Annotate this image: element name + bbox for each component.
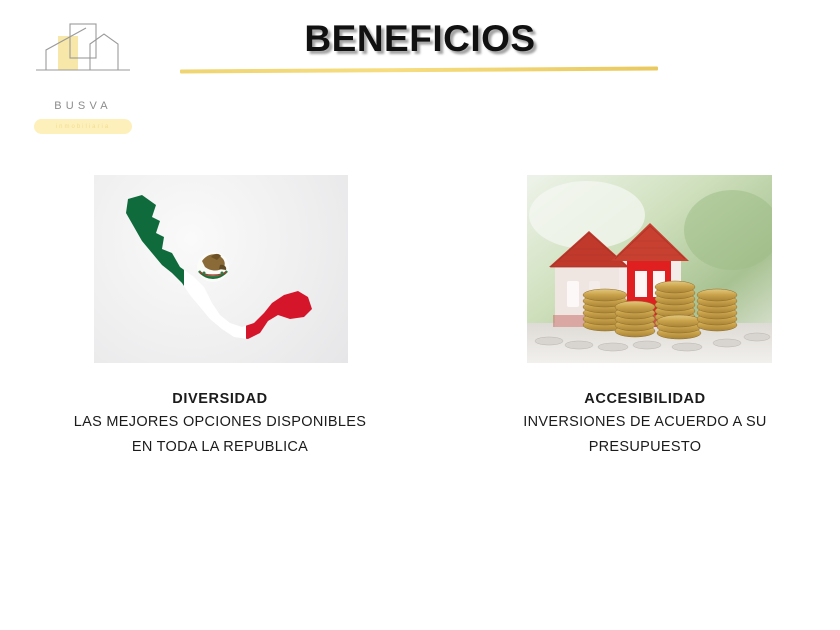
- coin-stack-4: [657, 315, 701, 339]
- mexico-map-shape: [112, 191, 330, 349]
- benefit-body-line-1: INVERSIONES DE ACUERDO A SU: [455, 410, 835, 435]
- benefit-caption-diversidad: DIVERSIDAD LAS MEJORES OPCIONES DISPONIB…: [10, 388, 430, 460]
- benefit-heading: ACCESIBILIDAD: [455, 388, 835, 410]
- benefit-body-line-2: EN TODA LA REPUBLICA: [10, 435, 430, 460]
- benefit-caption-accesibilidad: ACCESIBILIDAD INVERSIONES DE ACUERDO A S…: [455, 388, 835, 460]
- benefit-body-line-1: LAS MEJORES OPCIONES DISPONIBLES: [10, 410, 430, 435]
- logo-subtitle: inmobiliaria: [34, 121, 132, 133]
- coin-stack-2: [615, 301, 655, 337]
- title-underline-rule: [180, 67, 658, 74]
- logo-name: BUSVA: [28, 100, 138, 112]
- mexico-eagle-emblem-icon: [197, 252, 229, 282]
- slide-title: BENEFICIOS: [0, 18, 840, 60]
- house-coins-illustration: [527, 175, 772, 363]
- coin-stack-5: [697, 289, 737, 331]
- house-model-with-coin-stacks-image: [527, 175, 772, 363]
- benefit-body-line-2: PRESUPUESTO: [455, 435, 835, 460]
- benefit-heading: DIVERSIDAD: [10, 388, 430, 410]
- slide-canvas: BUSVA inmobiliaria BENEFICIOS: [0, 0, 840, 630]
- mexico-map-flag-image: [94, 175, 348, 363]
